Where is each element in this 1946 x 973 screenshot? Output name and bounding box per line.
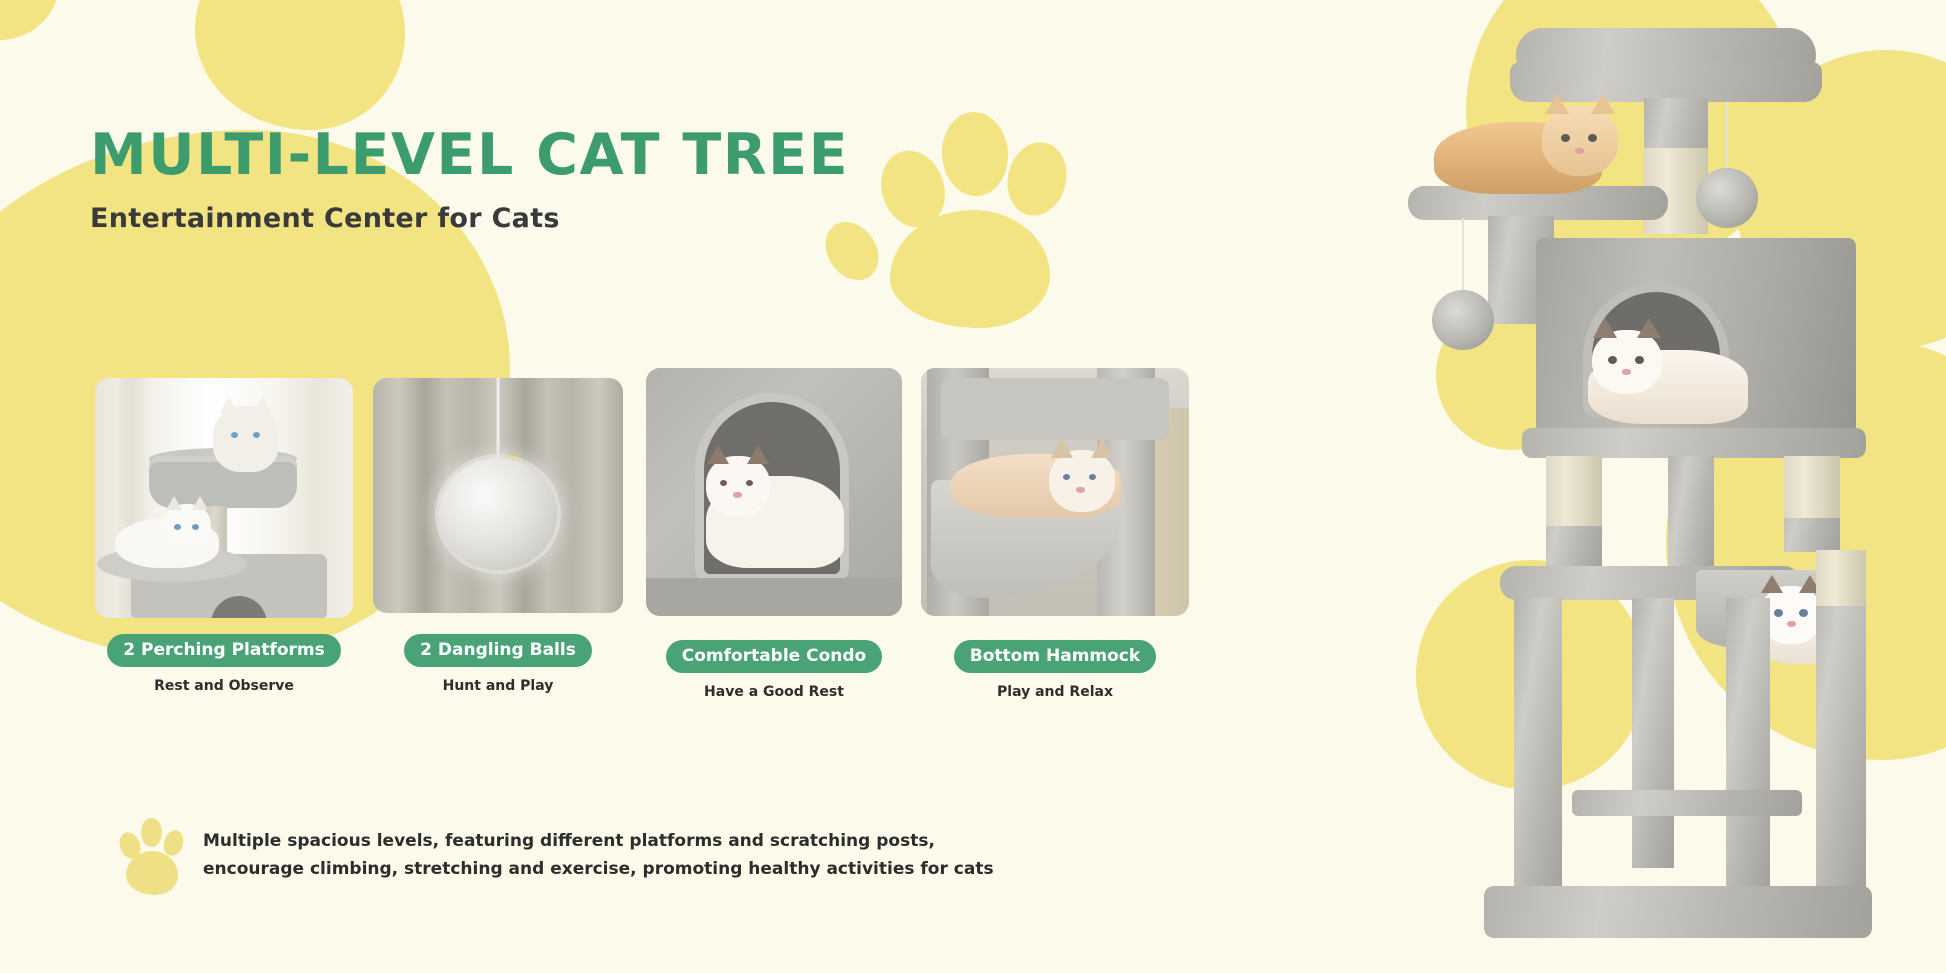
feature-badge: Bottom Hammock xyxy=(954,640,1156,673)
page-title: MULTI-LEVEL CAT TREE xyxy=(90,122,849,188)
feature-caption: Have a Good Rest xyxy=(646,684,902,700)
feature-thumbnail-comfortable-condo xyxy=(646,368,902,616)
background-blob-top-left xyxy=(195,0,405,130)
paw-print-icon xyxy=(880,100,1060,310)
description-text: Multiple spacious levels, featuring diff… xyxy=(203,828,1023,883)
description-line-2: encourage climbing, stretching and exerc… xyxy=(203,856,1023,884)
feature-thumbnail-perching-platforms xyxy=(95,378,353,618)
feature-badge: Comfortable Condo xyxy=(666,640,882,673)
feature-item-bottom-hammock: Bottom Hammock Play and Relax xyxy=(921,378,1189,700)
feature-list: 2 Perching Platforms Rest and Observe 2 … xyxy=(95,378,1195,708)
feature-badge: 2 Dangling Balls xyxy=(404,634,592,667)
feature-caption: Play and Relax xyxy=(921,684,1189,700)
feature-item-dangling-balls: 2 Dangling Balls Hunt and Play xyxy=(373,378,623,694)
paw-print-icon xyxy=(120,818,186,896)
feature-item-comfortable-condo: Comfortable Condo Have a Good Rest xyxy=(646,378,902,700)
dangling-ball-lower xyxy=(1432,290,1494,350)
description-line-1: Multiple spacious levels, featuring diff… xyxy=(203,828,1023,856)
feature-item-perching-platforms: 2 Perching Platforms Rest and Observe xyxy=(95,378,353,694)
feature-caption: Rest and Observe xyxy=(95,678,353,694)
feature-thumbnail-bottom-hammock xyxy=(921,368,1189,616)
page-subtitle: Entertainment Center for Cats xyxy=(90,203,560,234)
feature-caption: Hunt and Play xyxy=(373,678,623,694)
feature-thumbnail-dangling-balls xyxy=(373,378,623,613)
hero-product-image xyxy=(1396,10,1916,955)
feature-badge: 2 Perching Platforms xyxy=(107,634,341,667)
dangling-ball-upper xyxy=(1696,168,1758,228)
product-banner: MULTI-LEVEL CAT TREE Entertainment Cente… xyxy=(0,0,1946,973)
background-blob-corner xyxy=(0,0,60,40)
